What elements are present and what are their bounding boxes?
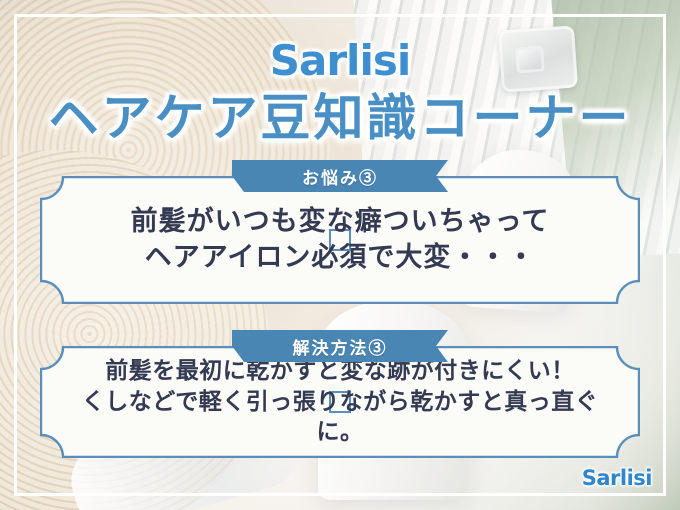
poster-canvas: Sarlisi ヘアケア豆知識コーナー お悩み③ 前髪がいつも変な癖ついちゃって… — [0, 0, 680, 510]
brand-wordmark-bottom: Sarlisi — [582, 466, 652, 490]
section-solution: 解決方法③ 前髪を最初に乾かすと変な跡が付きにくい！ くしなどで軽く引っ張りなが… — [40, 330, 640, 458]
card-text-solution: 前髪を最初に乾かすと変な跡が付きにくい！ くしなどで軽く引っ張りながら乾かすと真… — [40, 356, 640, 447]
ribbon-banner-problem: お悩み③ — [232, 160, 448, 192]
ribbon-label-problem: お悩み③ — [302, 164, 378, 189]
card-line-1: 前髪がいつも変な癖ついちゃって — [131, 206, 550, 237]
content-card-problem: 前髪がいつも変な癖ついちゃって ヘアアイロン必須で大変・・・ — [40, 176, 640, 304]
card-line-2: ヘアアイロン必須で大変・・・ — [131, 240, 550, 276]
card-text-problem: 前髪がいつも変な癖ついちゃって ヘアアイロン必須で大変・・・ — [111, 204, 570, 275]
section-problem: お悩み③ 前髪がいつも変な癖ついちゃって ヘアアイロン必須で大変・・・ — [40, 160, 640, 304]
card-line-2: くしなどで軽く引っ張りながら乾かすと真っ直ぐに。 — [60, 387, 620, 448]
ribbon-banner-solution: 解決方法③ — [232, 330, 448, 362]
content-card-solution: 前髪を最初に乾かすと変な跡が付きにくい！ くしなどで軽く引っ張りながら乾かすと真… — [40, 346, 640, 458]
ribbon-label-solution: 解決方法③ — [293, 334, 388, 359]
page-title: ヘアケア豆知識コーナー — [0, 78, 680, 150]
